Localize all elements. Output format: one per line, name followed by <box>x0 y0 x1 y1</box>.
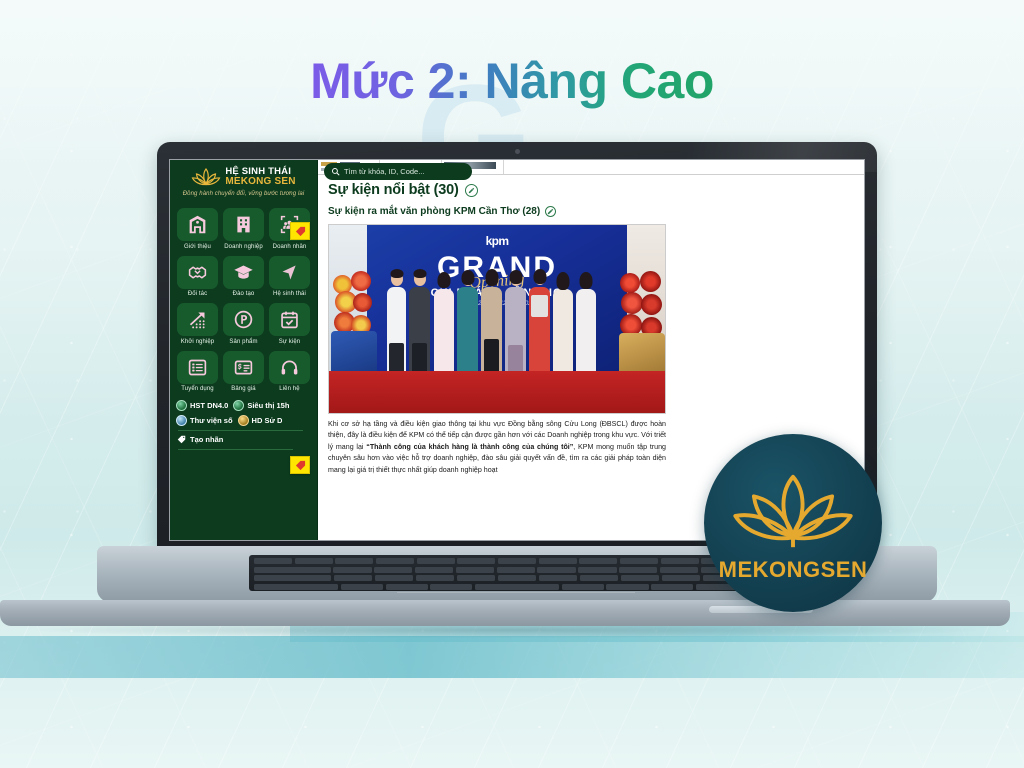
chip-label: HD Sử D <box>252 416 283 425</box>
globe-green-icon <box>176 400 187 411</box>
brand-line-2: MEKONG SEN <box>225 177 295 187</box>
edit-featured-button[interactable] <box>465 184 478 197</box>
sidebar-item-tao-nhan[interactable]: Tạo nhãn <box>176 435 311 444</box>
sidebar-item-bang-gia[interactable]: Bảng giá <box>223 351 264 393</box>
person <box>434 289 454 379</box>
chip-hst-dn40[interactable]: HST DN4.0 <box>176 400 228 411</box>
tag-marker-icon <box>295 226 306 237</box>
title-container: Mức 2: Nâng Cao <box>0 46 1024 116</box>
chip-label: Thư viện số <box>190 416 233 425</box>
lotus-icon <box>729 469 857 555</box>
tile-label: Sự kiện <box>269 339 310 345</box>
brand-tagline: Đồng hành chuyển đổi, vững bước tương la… <box>175 191 312 197</box>
chip-thu-vien-so[interactable]: Thư viện số <box>176 415 233 426</box>
sidebar-item-lien-he[interactable]: Liên hệ <box>269 351 310 393</box>
sidebar-brand[interactable]: HỆ SINH THÁI MEKONG SEN Đồng hành chuyển… <box>170 160 317 201</box>
edit-event-button[interactable] <box>545 206 556 217</box>
chip-label: HST DN4.0 <box>190 401 228 410</box>
mekongsen-badge: MEKONGSEN <box>704 434 882 612</box>
sidebar-item-doi-tac[interactable]: Đối tác <box>177 256 218 298</box>
person <box>553 289 573 379</box>
sidebar-item-he-sinh-thai[interactable]: Hệ sinh thái <box>269 256 310 298</box>
globe-gold-icon <box>238 415 249 426</box>
sidebar-item-dao-tao[interactable]: Đào tạo <box>223 256 264 298</box>
laptop-foot <box>0 600 1010 626</box>
growth-arrow-icon <box>187 309 208 330</box>
flower-stand-right <box>619 271 665 379</box>
person <box>409 287 430 379</box>
tag-marker-icon <box>295 460 306 471</box>
sticky-marker-bottom[interactable] <box>290 456 310 474</box>
school-icon <box>187 214 208 235</box>
chip-label: Siêu thị 15h <box>247 401 289 410</box>
photo-carpet <box>329 371 665 413</box>
price-tag-icon <box>233 357 254 378</box>
product-p-icon <box>233 309 254 330</box>
keyboard[interactable] <box>249 555 785 591</box>
tile-label: Khởi nghiệp <box>177 339 218 345</box>
tile-label: Doanh nghiệp <box>223 244 264 250</box>
event-photo[interactable]: kpm GRAND Opening CHI NHÁNH CẦN THƠ Ngày… <box>328 224 666 414</box>
tile-label: Đối tác <box>177 291 218 297</box>
search-icon <box>331 167 340 176</box>
graduation-cap-icon <box>233 262 254 283</box>
search-placeholder: Tìm từ khóa, ID, Code... <box>344 167 424 176</box>
tile-label: Đào tạo <box>223 291 264 297</box>
tile-label: Liên hệ <box>269 386 310 392</box>
share-network-icon <box>279 262 300 283</box>
background-band <box>0 636 1024 678</box>
person <box>505 287 526 379</box>
person <box>457 287 478 379</box>
webcam-icon <box>515 149 520 154</box>
sidebar-item-su-kien[interactable]: Sự kiện <box>269 303 310 345</box>
heading-event: Sự kiện ra mắt văn phòng KPM Cần Thơ (28… <box>328 206 854 217</box>
sidebar-item-gioi-thieu[interactable]: Giới thiệu <box>177 208 218 250</box>
edit-icon <box>547 208 554 215</box>
thumbnail-item[interactable] <box>504 160 566 174</box>
sidebar-item-tuyen-dung[interactable]: Tuyển dụng <box>177 351 218 393</box>
globe-blue-icon <box>176 415 187 426</box>
globe-green-icon <box>233 400 244 411</box>
handshake-icon <box>187 262 208 283</box>
chip-sieu-thi-15h[interactable]: Siêu thị 15h <box>233 400 289 411</box>
list-icon <box>187 357 208 378</box>
calendar-check-icon <box>279 309 300 330</box>
article-paragraph: Khi cơ sở hạ tầng và điều kiện giao thôn… <box>328 419 666 476</box>
badge-label: MEKONGSEN <box>719 557 868 583</box>
sidebar-item-khoi-nghiep[interactable]: Khởi nghiệp <box>177 303 218 345</box>
tile-label: Bảng giá <box>223 386 264 392</box>
paragraph-quote: “Thành công của khách hàng là thành công… <box>366 443 573 451</box>
sidebar-chips: HST DN4.0 Siêu thị 15h Thư viện số <box>170 396 317 450</box>
heading-featured: Sự kiện nổi bật (30) <box>328 182 854 198</box>
sidebar: HỆ SINH THÁI MEKONG SEN Đồng hành chuyển… <box>170 160 318 540</box>
heading-featured-text: Sự kiện nổi bật (30) <box>328 182 459 198</box>
lotus-icon <box>191 166 221 188</box>
search-input[interactable]: Tìm từ khóa, ID, Code... <box>324 163 472 180</box>
person <box>576 289 596 379</box>
tile-label: Hệ sinh thái <box>269 291 310 297</box>
divider <box>178 430 303 431</box>
tile-label: Sản phẩm <box>223 339 264 345</box>
tag-icon <box>177 435 186 444</box>
trackpad-edge <box>397 592 635 593</box>
sidebar-item-doanh-nghiep[interactable]: Doanh nghiệp <box>223 208 264 250</box>
heading-event-text: Sự kiện ra mắt văn phòng KPM Cần Thơ (28… <box>328 206 540 217</box>
building-icon <box>233 214 254 235</box>
tile-label: Giới thiệu <box>177 244 218 250</box>
edit-icon <box>468 187 475 194</box>
kpm-logo: kpm <box>486 234 509 248</box>
person <box>529 287 550 379</box>
tile-label: Doanh nhân <box>269 244 310 250</box>
sidebar-item-san-pham[interactable]: Sản phẩm <box>223 303 264 345</box>
sticky-marker-top[interactable] <box>290 222 310 240</box>
flower-stand-left <box>331 271 377 379</box>
divider <box>178 449 293 450</box>
content-area: Sự kiện nổi bật (30) Sự kiện ra mắt văn … <box>318 175 864 476</box>
tile-label: Tuyển dụng <box>177 386 218 392</box>
page-title: Mức 2: Nâng Cao <box>310 52 714 110</box>
headset-icon <box>279 357 300 378</box>
chip-hd-su-dung[interactable]: HD Sử D <box>238 415 283 426</box>
person <box>387 287 406 379</box>
person <box>481 287 502 379</box>
tag-label: Tạo nhãn <box>190 435 223 444</box>
